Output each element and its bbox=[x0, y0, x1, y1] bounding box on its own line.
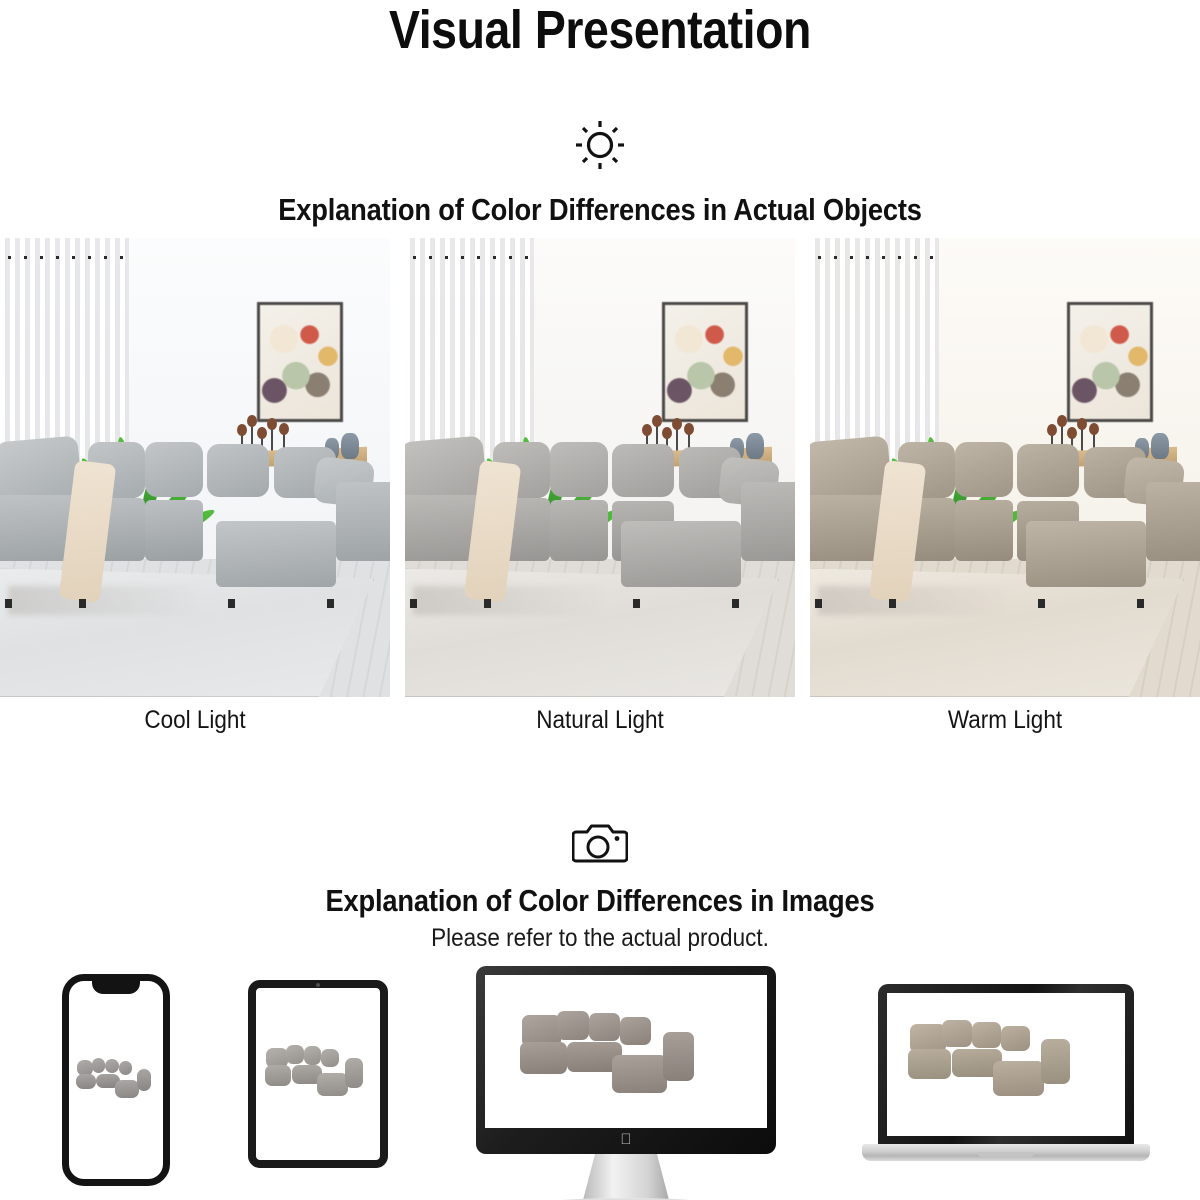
apple-logo-icon:  bbox=[620, 1132, 631, 1147]
tablet-camera-icon bbox=[316, 983, 320, 987]
label-cool-light: Cool Light bbox=[20, 706, 371, 740]
photo-cool-light[interactable] bbox=[0, 238, 390, 697]
visual-presentation-page: Visual Presentation Explanation of Color… bbox=[0, 0, 1200, 1200]
photo-natural-light[interactable] bbox=[405, 238, 795, 697]
page-title: Visual Presentation bbox=[84, 2, 1116, 59]
section-heading-images: Explanation of Color Differences in Imag… bbox=[72, 883, 1128, 919]
section-heading-actual-objects: Explanation of Color Differences in Actu… bbox=[72, 192, 1128, 228]
refer-to-actual-product-note: Please refer to the actual product. bbox=[60, 924, 1140, 953]
sun-icon bbox=[574, 119, 626, 171]
label-warm-light: Warm Light bbox=[830, 706, 1181, 740]
wall-art bbox=[257, 302, 343, 421]
monitor-viewport bbox=[485, 975, 767, 1128]
sectional-sofa bbox=[810, 435, 1200, 600]
laptop-viewport bbox=[887, 993, 1125, 1136]
device-phone[interactable] bbox=[62, 974, 170, 1186]
monitor-stand-neck bbox=[583, 1154, 669, 1200]
camera-icon bbox=[572, 820, 628, 866]
camera-icon-container bbox=[0, 812, 1200, 874]
sectional-sofa bbox=[0, 435, 390, 600]
laptop-lid bbox=[878, 984, 1134, 1146]
sofa-product-image-laptop bbox=[906, 1010, 1088, 1108]
device-tablet[interactable] bbox=[248, 980, 388, 1168]
laptop-trackpad bbox=[978, 1152, 1034, 1157]
label-natural-light: Natural Light bbox=[425, 706, 776, 740]
photo-warm-light[interactable] bbox=[810, 238, 1200, 697]
device-laptop[interactable] bbox=[862, 984, 1150, 1170]
device-display-row:  bbox=[0, 962, 1200, 1200]
sofa-product-image-tablet bbox=[264, 1038, 374, 1106]
wall-art bbox=[662, 302, 748, 421]
sofa-product-image-monitor bbox=[518, 1000, 714, 1106]
sun-icon-container bbox=[0, 120, 1200, 170]
lighting-comparison-photos bbox=[0, 238, 1200, 697]
curtain-rod bbox=[8, 256, 125, 259]
photo-labels: Cool Light Natural Light Warm Light bbox=[0, 706, 1200, 740]
phone-notch bbox=[92, 980, 140, 994]
curtain-rod bbox=[818, 256, 935, 259]
wall-art bbox=[1067, 302, 1153, 421]
curtain-rod bbox=[413, 256, 530, 259]
sofa-product-image-phone bbox=[75, 1053, 159, 1105]
sectional-sofa bbox=[405, 435, 795, 600]
device-monitor[interactable]:  bbox=[476, 966, 776, 1154]
monitor-screen:  bbox=[476, 966, 776, 1154]
